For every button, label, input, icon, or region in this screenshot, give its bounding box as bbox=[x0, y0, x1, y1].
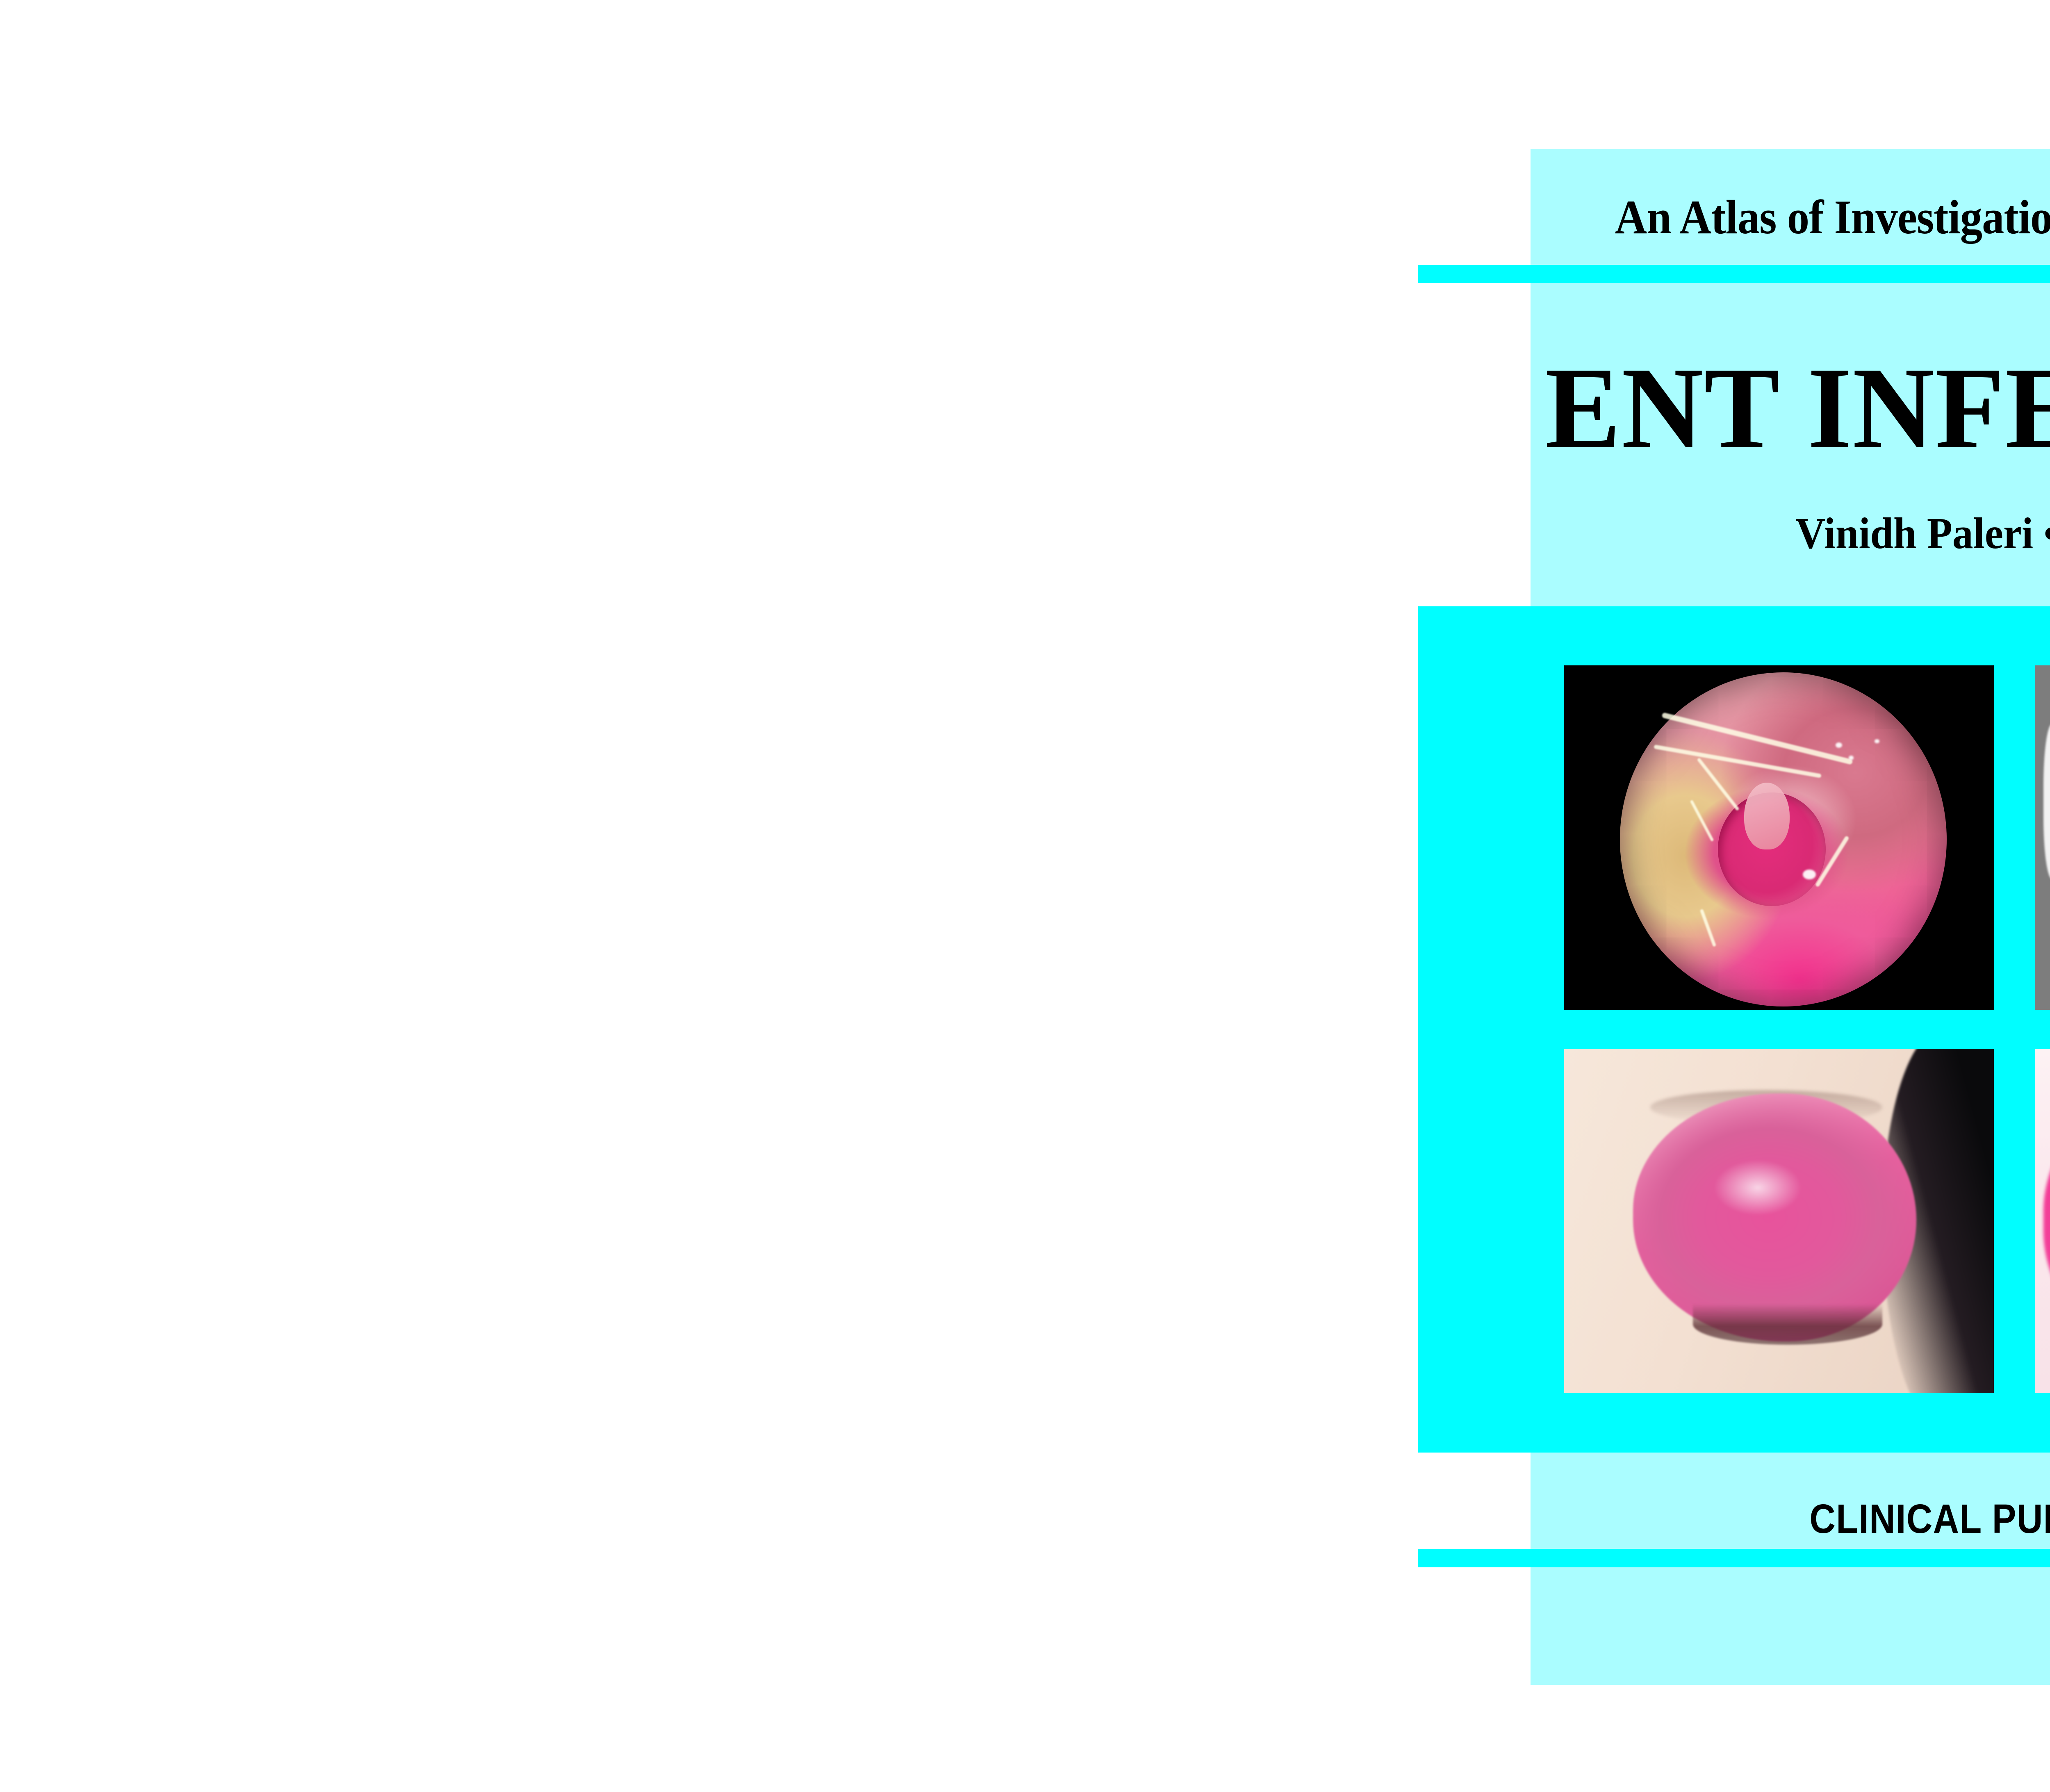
light-streak bbox=[1700, 909, 1716, 947]
light-streak bbox=[1690, 800, 1714, 842]
specular-highlight bbox=[1849, 756, 1854, 760]
series-subtitle: An Atlas of Investigation and Management bbox=[1569, 193, 2050, 241]
otoscopic-tympanic-membrane-photo bbox=[1564, 665, 1994, 1010]
specular-highlight bbox=[1836, 742, 1842, 748]
specular-highlight bbox=[1875, 739, 1879, 743]
authors-line: Vinidh Paleri • John Hill bbox=[1560, 512, 2050, 556]
publisher-name: CLINICAL PUBLISHING bbox=[1589, 1498, 2050, 1539]
book-cover: An Atlas of Investigation and Management… bbox=[0, 0, 2050, 1792]
oropharynx-tonsillitis-photo bbox=[2035, 1049, 2050, 1393]
title-block: An Atlas of Investigation and Management… bbox=[1531, 149, 2050, 606]
periorbital-cellulitis-photo bbox=[1564, 1049, 1994, 1393]
page-title: ENT INFECTIONS bbox=[1545, 350, 2050, 467]
light-streak bbox=[1697, 757, 1739, 811]
eyelash-line bbox=[1693, 1304, 1882, 1345]
accent-rule-bottom bbox=[1418, 1549, 2050, 1567]
malleus-handle bbox=[1744, 783, 1790, 849]
eardrum-disc bbox=[1620, 672, 1946, 1006]
coronal-ct-paranasal-sinuses bbox=[2035, 665, 2050, 1010]
light-streak bbox=[1661, 712, 1853, 765]
specular-highlight bbox=[1803, 870, 1816, 879]
